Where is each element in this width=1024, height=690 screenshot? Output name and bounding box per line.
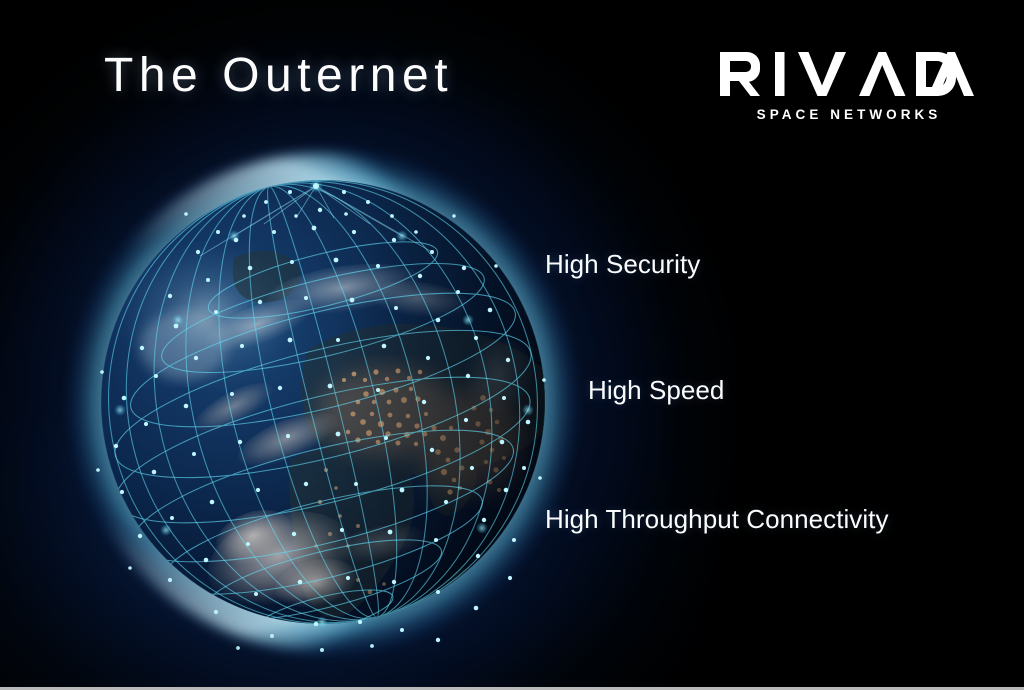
logo-subtitle: SPACE NETWORKS [718,107,976,122]
slide-root: The Outernet SPACE NETWORKS High Securit… [0,0,1024,690]
rivada-wordmark-icon [718,48,976,100]
feature-label-high-security: High Security [545,249,700,280]
feature-label-high-throughput: High Throughput Connectivity [545,504,889,535]
globe-svg [58,140,588,670]
page-title: The Outernet [104,52,453,100]
feature-label-high-speed: High Speed [588,375,724,406]
globe-graphic [58,140,588,670]
rivada-logo: SPACE NETWORKS [718,48,976,122]
